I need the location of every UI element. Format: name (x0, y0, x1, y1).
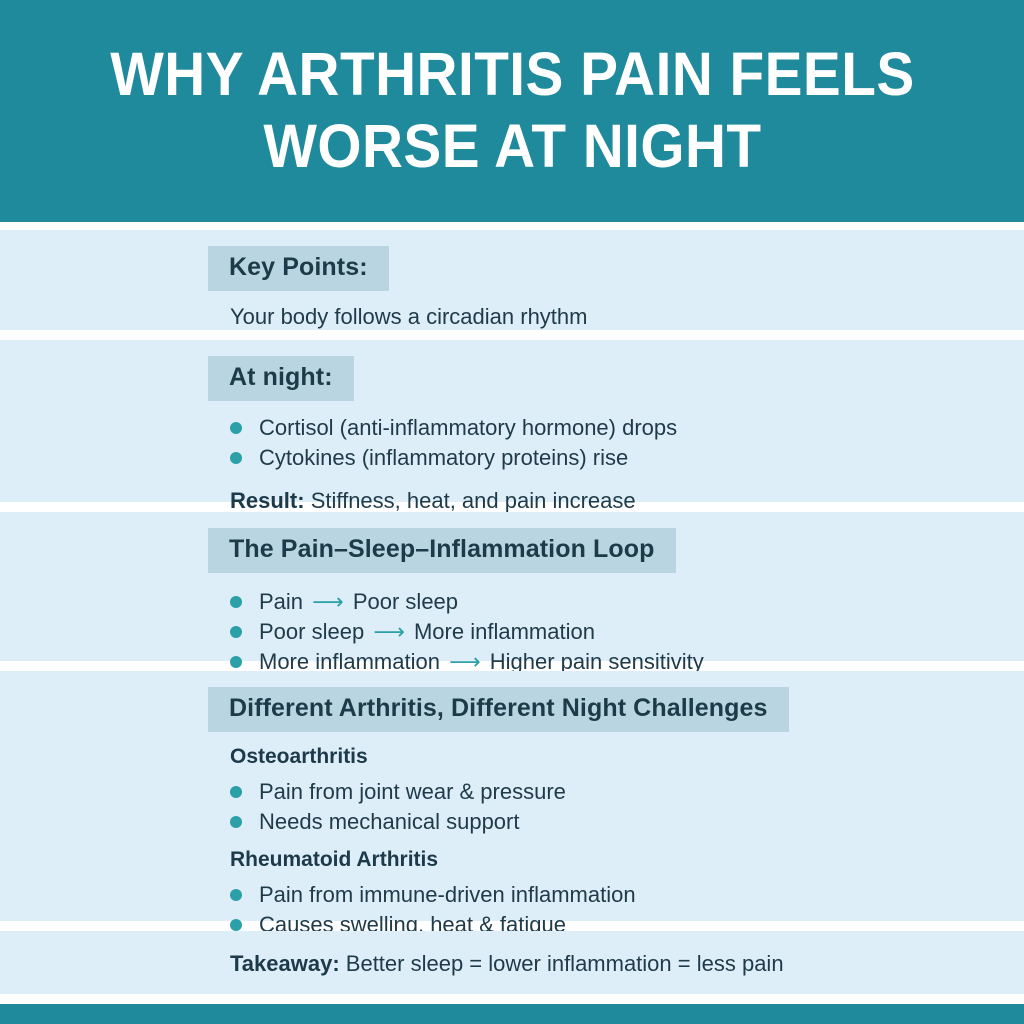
result-text: Stiffness, heat, and pain increase (311, 488, 636, 513)
section-heading-wrap: The Pain–Sleep–Inflammation Loop (208, 528, 984, 573)
footer-band (0, 1004, 1024, 1024)
bullet-dot-icon (230, 889, 242, 901)
section-takeaway: Takeaway: Better sleep = lower inflammat… (0, 931, 1024, 994)
header-band: WHY ARTHRITIS PAIN FEELS WORSE AT NIGHT (0, 0, 1024, 222)
page-title: WHY ARTHRITIS PAIN FEELS WORSE AT NIGHT (110, 39, 914, 183)
bullet-dot-icon (230, 422, 242, 434)
section-key-points: Key Points: Your body follows a circadia… (0, 230, 1024, 330)
list-item-label: Cortisol (anti-inflammatory hormone) dro… (259, 415, 677, 440)
section-heading-at-night: At night: (208, 356, 354, 401)
list-item: Pain from immune-driven inflammation (208, 880, 984, 910)
bullet-dot-icon (230, 786, 242, 798)
section-heading-wrap: Different Arthritis, Different Night Cha… (208, 687, 984, 732)
section-heading-wrap: Key Points: (208, 246, 984, 291)
list-item: Pain from joint wear & pressure (208, 777, 984, 807)
loop-from-label: Pain (259, 589, 303, 614)
takeaway-line: Takeaway: Better sleep = lower inflammat… (208, 931, 984, 979)
list-item: Needs mechanical support (208, 807, 984, 837)
bullet-dot-icon (230, 816, 242, 828)
infographic-poster: WHY ARTHRITIS PAIN FEELS WORSE AT NIGHT … (0, 0, 1024, 1024)
subheading-rheumatoid-arthritis: Rheumatoid Arthritis (208, 849, 984, 870)
section-heading-wrap: At night: (208, 356, 984, 401)
bullet-dot-icon (230, 626, 242, 638)
section-at-night: At night: Cortisol (anti-inflammatory ho… (0, 340, 1024, 502)
at-night-bullet-list: Cortisol (anti-inflammatory hormone) dro… (208, 413, 984, 473)
list-item-label: Pain from immune-driven inflammation (259, 882, 636, 907)
bullet-dot-icon (230, 452, 242, 464)
loop-bullet-list: Pain ⟶ Poor sleep Poor sleep ⟶ More infl… (208, 587, 984, 677)
list-item-label: Pain from joint wear & pressure (259, 779, 566, 804)
bullet-dot-icon (230, 596, 242, 608)
arrow-right-icon: ⟶ (370, 619, 408, 644)
bullet-dot-icon (230, 656, 242, 668)
result-label: Result: (230, 488, 305, 513)
key-points-lead-text: Your body follows a circadian rhythm (208, 303, 984, 332)
list-item: Cortisol (anti-inflammatory hormone) dro… (208, 413, 984, 443)
list-item: Poor sleep ⟶ More inflammation (208, 617, 984, 647)
list-item-label: Needs mechanical support (259, 809, 519, 834)
list-item: Cytokines (inflammatory proteins) rise (208, 443, 984, 473)
takeaway-text: Better sleep = lower inflammation = less… (346, 951, 784, 976)
takeaway-label: Takeaway: (230, 951, 340, 976)
section-different-arthritis: Different Arthritis, Different Night Cha… (0, 671, 1024, 921)
subheading-osteoarthritis: Osteoarthritis (208, 746, 984, 767)
section-heading-loop: The Pain–Sleep–Inflammation Loop (208, 528, 676, 573)
section-heading-different-arthritis: Different Arthritis, Different Night Cha… (208, 687, 789, 732)
section-pain-sleep-inflammation-loop: The Pain–Sleep–Inflammation Loop Pain ⟶ … (0, 512, 1024, 661)
arrow-right-icon: ⟶ (309, 589, 347, 614)
loop-to-label: More inflammation (414, 619, 595, 644)
list-item: Pain ⟶ Poor sleep (208, 587, 984, 617)
bullet-dot-icon (230, 919, 242, 931)
list-item-label: Cytokines (inflammatory proteins) rise (259, 445, 628, 470)
osteoarthritis-bullet-list: Pain from joint wear & pressure Needs me… (208, 777, 984, 837)
section-heading-key-points: Key Points: (208, 246, 389, 291)
loop-from-label: Poor sleep (259, 619, 364, 644)
loop-to-label: Poor sleep (353, 589, 458, 614)
